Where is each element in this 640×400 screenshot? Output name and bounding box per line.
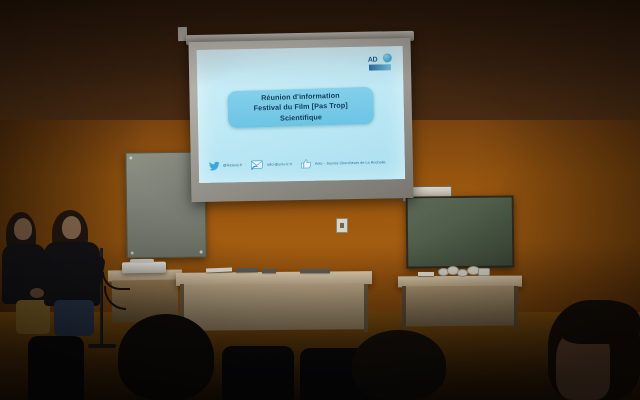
desk-paper-2 bbox=[236, 268, 258, 272]
microphone-stand-base bbox=[88, 344, 116, 348]
logo-text: AD bbox=[368, 57, 378, 64]
logo-bar bbox=[369, 64, 391, 70]
slide-title-lines: Réunion d'information Festival du Film [… bbox=[253, 90, 348, 124]
twitter-icon bbox=[209, 161, 220, 170]
mail-address: adcr@univ-lr.fr bbox=[267, 162, 292, 166]
footer-mail: adcr@univ-lr.fr bbox=[251, 159, 292, 170]
chair-stem bbox=[258, 378, 266, 400]
mail-icon bbox=[251, 160, 264, 170]
room-scene: AD Réunion d'information Festival du Fil… bbox=[0, 0, 640, 400]
desk-right-leg-left bbox=[402, 286, 406, 330]
facebook-page-name: Adcr - Jeunes Chercheurs de La Rochelle bbox=[315, 160, 386, 165]
footer-twitter: @festival.fr bbox=[209, 161, 242, 171]
logo-dot bbox=[383, 53, 392, 62]
twitter-handle: @festival.fr bbox=[223, 163, 242, 167]
chalkboard-right bbox=[406, 195, 515, 268]
audience-head-left bbox=[118, 314, 214, 400]
desk-right-paper bbox=[418, 272, 434, 276]
desk-center-leg-right bbox=[364, 284, 368, 332]
audience-head-center bbox=[352, 330, 446, 400]
slide-title-box: Réunion d'information Festival du Film [… bbox=[227, 87, 374, 129]
desk-right-clutter bbox=[438, 265, 490, 277]
adcr-logo: AD bbox=[368, 53, 394, 70]
desk-paper-4 bbox=[300, 269, 330, 273]
wall-power-outlet bbox=[336, 218, 348, 233]
facebook-thumb-icon bbox=[301, 159, 312, 169]
presentation-slide: AD Réunion d'information Festival du Fil… bbox=[197, 46, 406, 183]
footer-facebook: Adcr - Jeunes Chercheurs de La Rochelle bbox=[301, 157, 386, 169]
desk-paper-3 bbox=[262, 269, 276, 273]
desk-right-body bbox=[404, 286, 516, 327]
chair-far-left bbox=[28, 336, 84, 400]
projection-screen: AD Réunion d'information Festival du Fil… bbox=[188, 38, 413, 202]
desk-right-leg-right bbox=[514, 286, 518, 330]
projector-lens-housing bbox=[130, 259, 154, 263]
desk-center-body bbox=[182, 283, 366, 331]
